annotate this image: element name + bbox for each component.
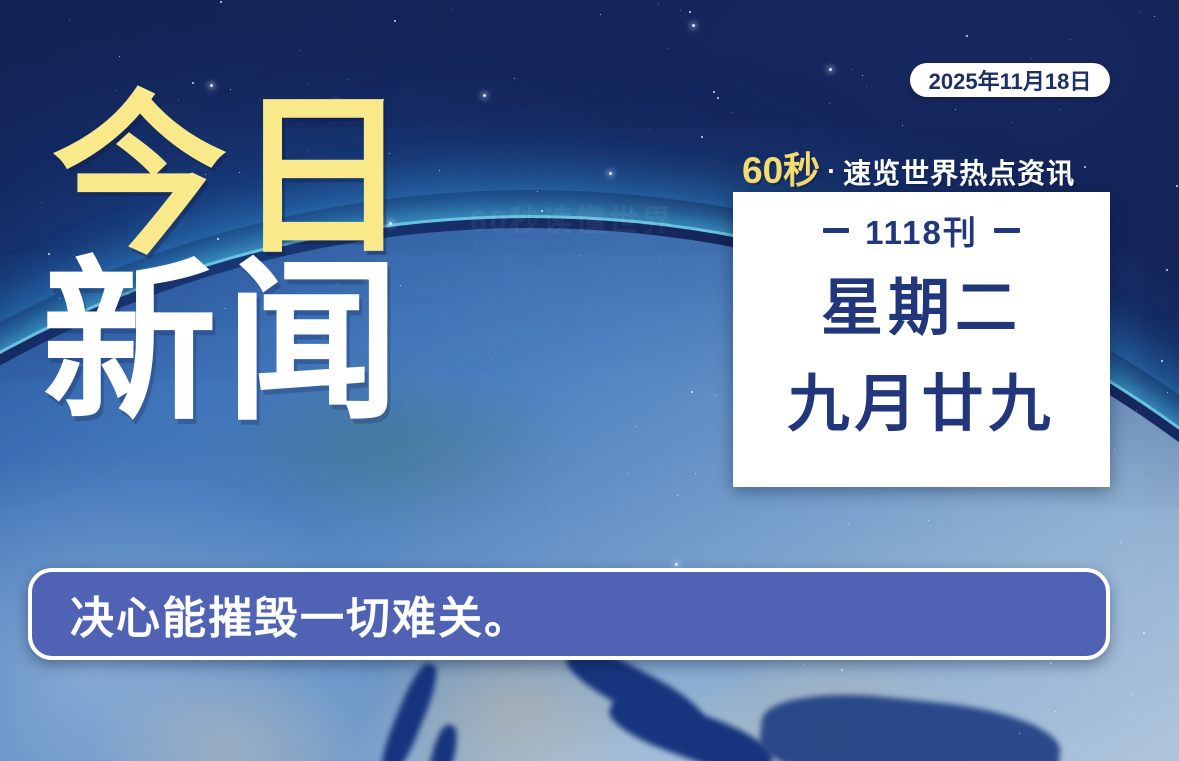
- issue-number: 1118刊: [865, 206, 978, 254]
- quote-text: 决心能摧毁一切难关。: [70, 582, 530, 646]
- tagline: 60秒 · 速览世界热点资讯: [742, 140, 1075, 194]
- tagline-separator-dot: ·: [827, 156, 836, 187]
- title-line-today: 今日: [52, 92, 532, 264]
- title-line-news: 新闻: [42, 258, 532, 430]
- weekday-label: 星期二: [821, 278, 1022, 340]
- lunar-date-label: 九月廿九: [787, 374, 1055, 436]
- tagline-seconds: 60秒: [742, 140, 820, 194]
- issue-dash-right: [994, 228, 1020, 233]
- page-title: 今日 新闻: [52, 92, 532, 429]
- issue-dash-left: [823, 228, 849, 233]
- news-poster: 60秒读懂世界 今日 新闻 2025年11月18日 60秒 · 速览世界热点资讯…: [0, 0, 1179, 761]
- issue-row: 1118刊: [823, 206, 1020, 254]
- quote-banner: 决心能摧毁一切难关。: [28, 568, 1110, 660]
- date-badge: 2025年11月18日: [910, 63, 1110, 97]
- issue-card: 1118刊 星期二 九月廿九: [733, 192, 1110, 487]
- date-badge-label: 2025年11月18日: [929, 64, 1092, 96]
- tagline-description: 速览世界热点资讯: [843, 152, 1075, 192]
